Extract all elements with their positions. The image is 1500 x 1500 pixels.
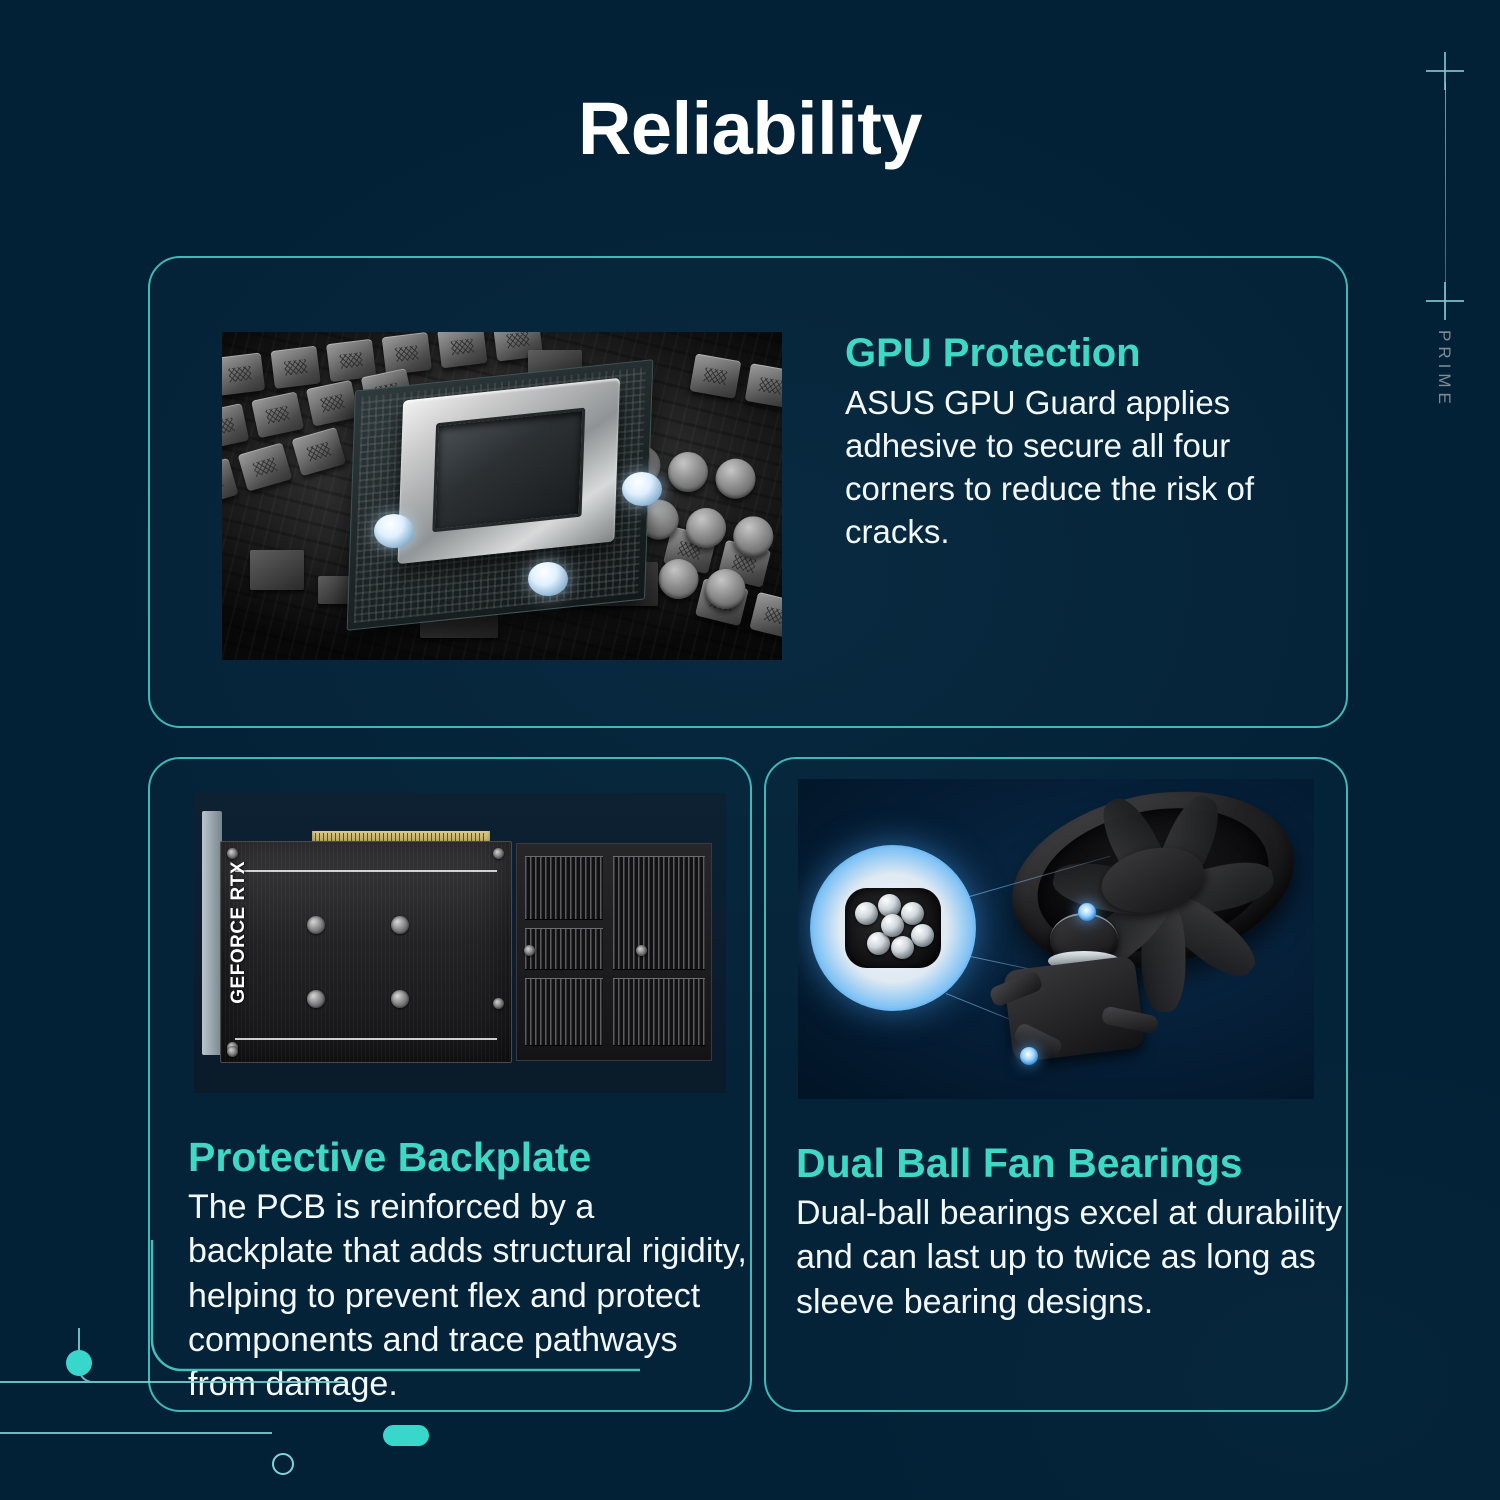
circuit-trace-decoration <box>0 1240 640 1500</box>
fan-hub-assembly <box>990 907 1158 1075</box>
brand-rail: PRIME <box>1418 30 1474 430</box>
gpu-die <box>432 408 585 533</box>
mounting-screw <box>227 848 238 859</box>
brand-rail-label: PRIME <box>1434 330 1454 409</box>
backplate-edge-line <box>235 1038 497 1040</box>
card-title-protective-backplate: Protective Backplate <box>188 1135 748 1179</box>
smd-component <box>250 550 304 590</box>
bearing-ball <box>911 924 934 947</box>
adhesive-blob <box>528 562 568 596</box>
trace-node-solid <box>66 1350 92 1376</box>
dual-ball-bearing-exploded-photo <box>798 779 1314 1099</box>
bearing-ball <box>881 914 904 937</box>
mounting-screw <box>307 916 325 934</box>
bearing-highlight-dot <box>1020 1047 1038 1065</box>
bearing-ball <box>901 902 924 925</box>
io-bracket <box>202 811 222 1055</box>
bearing-highlight-dot <box>1078 903 1096 921</box>
backplate-brand-label: GEFORCE RTX <box>228 861 250 1004</box>
page-title: Reliability <box>0 92 1500 166</box>
mounting-screw <box>493 998 504 1009</box>
heatsink-fin-stack <box>516 843 712 1061</box>
mounting-screw <box>391 990 409 1008</box>
gpu-package <box>347 359 654 631</box>
bearing-ball <box>891 936 914 959</box>
card-body-dual-ball-fan-bearings: Dual-ball bearings excel at durability a… <box>796 1191 1344 1324</box>
bearing-race <box>845 888 941 968</box>
card-title-gpu-protection: GPU Protection <box>845 332 1277 375</box>
mounting-screw <box>493 848 504 859</box>
mounting-screw <box>391 916 409 934</box>
bearing-magnifier-inset <box>810 845 976 1011</box>
adhesive-blob <box>622 472 662 506</box>
mounting-screw <box>524 945 535 956</box>
card-title-dual-ball-fan-bearings: Dual Ball Fan Bearings <box>796 1141 1344 1185</box>
adhesive-blob <box>374 514 414 548</box>
card-dual-ball-fan-bearings: Dual Ball Fan Bearings Dual-ball bearing… <box>764 757 1348 1412</box>
mounting-screw <box>636 945 647 956</box>
backplate-panel <box>220 841 512 1063</box>
plus-marker-icon <box>1426 282 1464 320</box>
integrated-heat-spreader <box>398 378 621 564</box>
trace-terminator-pill <box>383 1425 429 1446</box>
bearing-ball <box>855 902 878 925</box>
mounting-screw <box>307 990 325 1008</box>
mounting-screw <box>227 1046 238 1057</box>
card-body-gpu-protection: ASUS GPU Guard applies adhesive to secur… <box>845 382 1277 554</box>
backplate-edge-line <box>235 870 497 872</box>
card-gpu-protection: GPU Protection ASUS GPU Guard applies ad… <box>148 256 1348 728</box>
graphics-card-backplate-photo: GEFORCE RTX <box>194 793 726 1093</box>
gpu-die-adhesive-photo <box>222 332 782 660</box>
trace-node-open <box>272 1453 294 1475</box>
